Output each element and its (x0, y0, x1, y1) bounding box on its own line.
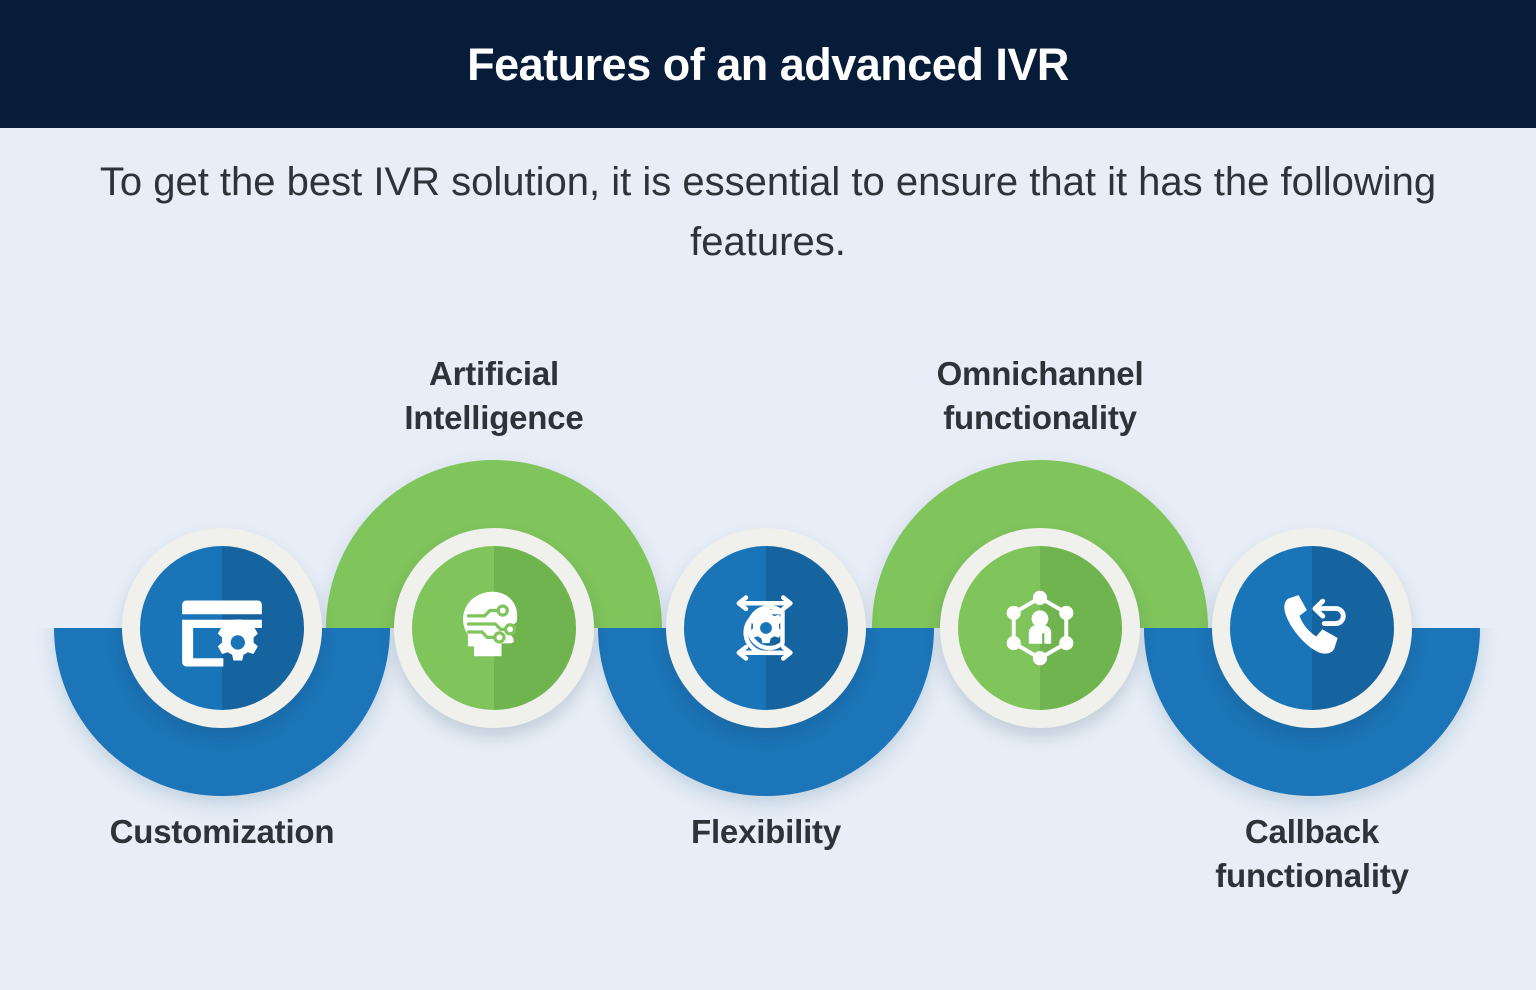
feature-label-omnichannel-functionality: Omnichannel functionality (840, 352, 1240, 440)
page-title: Features of an advanced IVR (467, 42, 1069, 87)
feature-label-callback-functionality: Callback functionality (1112, 810, 1512, 898)
feature-node-customization[interactable] (122, 528, 322, 728)
ivr-features-infographic: Features of an advanced IVR To get the b… (0, 0, 1536, 990)
gear-arrows-cycle-icon (666, 528, 866, 728)
network-hexagon-person-icon (940, 528, 1140, 728)
feature-node-callback-functionality[interactable] (1212, 528, 1412, 728)
feature-label-artificial-intelligence: Artificial Intelligence (294, 352, 694, 440)
feature-node-omnichannel-functionality[interactable] (940, 528, 1140, 728)
feature-node-flexibility[interactable] (666, 528, 866, 728)
phone-callback-icon (1212, 528, 1412, 728)
feature-label-flexibility: Flexibility (566, 810, 966, 854)
subtitle-text: To get the best IVR solution, it is esse… (88, 152, 1448, 272)
feature-node-artificial-intelligence[interactable] (394, 528, 594, 728)
header-bar: Features of an advanced IVR (0, 0, 1536, 128)
browser-window-gear-icon (122, 528, 322, 728)
feature-label-customization: Customization (22, 810, 422, 854)
ai-head-circuit-icon (394, 528, 594, 728)
